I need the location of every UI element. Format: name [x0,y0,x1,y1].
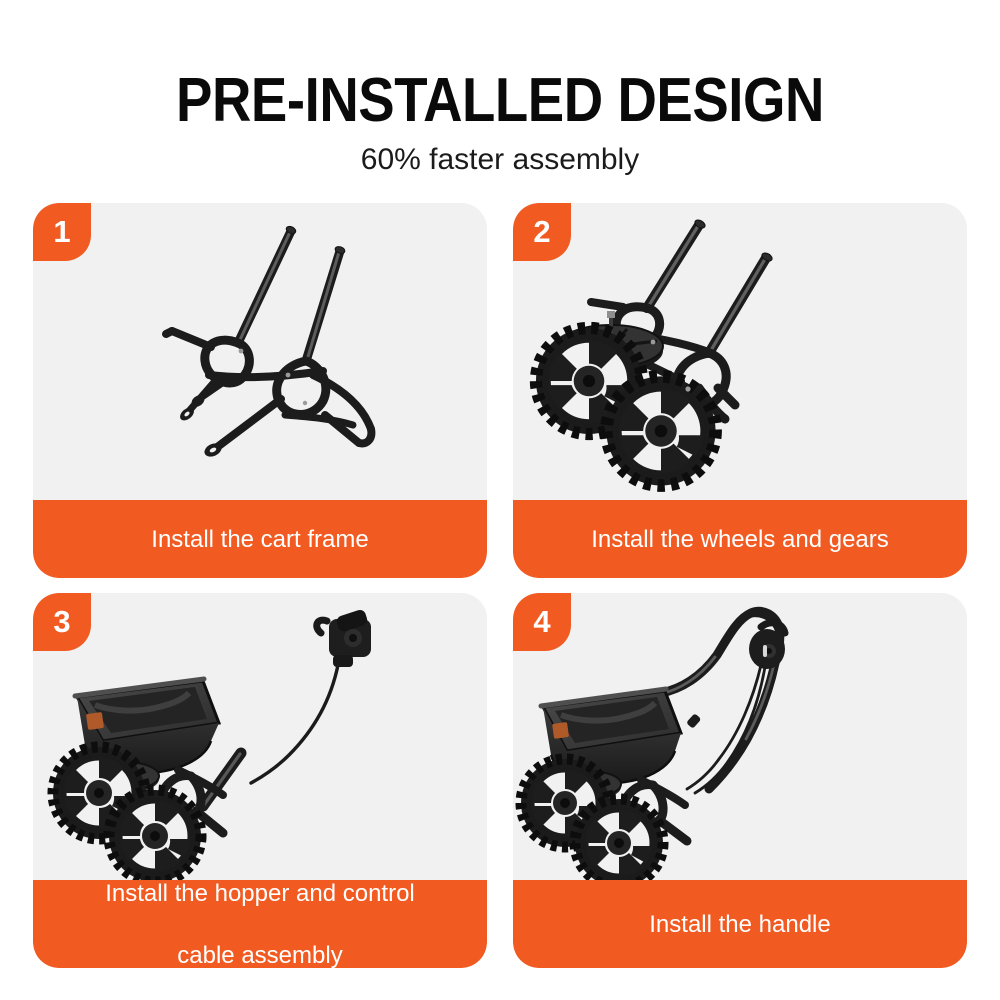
control-cable [251,665,338,783]
step-caption-text: Install the handle [527,909,953,940]
step-2-illustration [513,203,967,500]
step-number-badge: 4 [513,593,571,651]
step-number-badge: 2 [513,203,571,261]
step-caption-line-2: cable assembly [47,940,473,969]
step-4-illustration [513,593,967,880]
step-number-badge: 3 [33,593,91,651]
control-lever [317,608,371,667]
page-title: PRE-INSTALLED DESIGN [60,70,940,132]
step-caption: Install the handle [513,880,967,968]
step-caption-text: Install the cart frame [47,524,473,555]
step-card-1: 1 Install the cart frame [33,203,487,578]
assembly-steps-infographic: PRE-INSTALLED DESIGN 60% faster assembly [0,0,1000,1000]
step-card-4: 4 Install the handle [513,593,967,968]
step-number-badge: 1 [33,203,91,261]
hopper-control-cable-drawing [33,593,487,880]
cart-frame-drawing [33,203,487,500]
wheel-front [109,790,201,880]
page-subtitle: 60% faster assembly [0,143,1000,177]
step-caption: Install the wheels and gears [513,500,967,578]
wheel-front [606,376,715,485]
step-card-2: 2 Install the wheels and gears [513,203,967,578]
step-card-3: 3 Install the hopper and control cable a… [33,593,487,968]
step-caption-text: Install the wheels and gears [527,524,953,555]
header: PRE-INSTALLED DESIGN 60% faster assembly [0,0,1000,190]
steps-grid: 1 Install the cart frame [33,203,967,968]
step-caption: Install the cart frame [33,500,487,578]
frame-wheels-gears-drawing [513,203,967,500]
step-caption: Install the hopper and control cable ass… [33,880,487,968]
step-caption-text: Install the hopper and control cable ass… [47,878,473,969]
complete-spreader-drawing [513,593,967,880]
step-caption-line-1: Install the hopper and control [47,878,473,909]
step-3-illustration [33,593,487,880]
step-1-illustration [33,203,487,500]
